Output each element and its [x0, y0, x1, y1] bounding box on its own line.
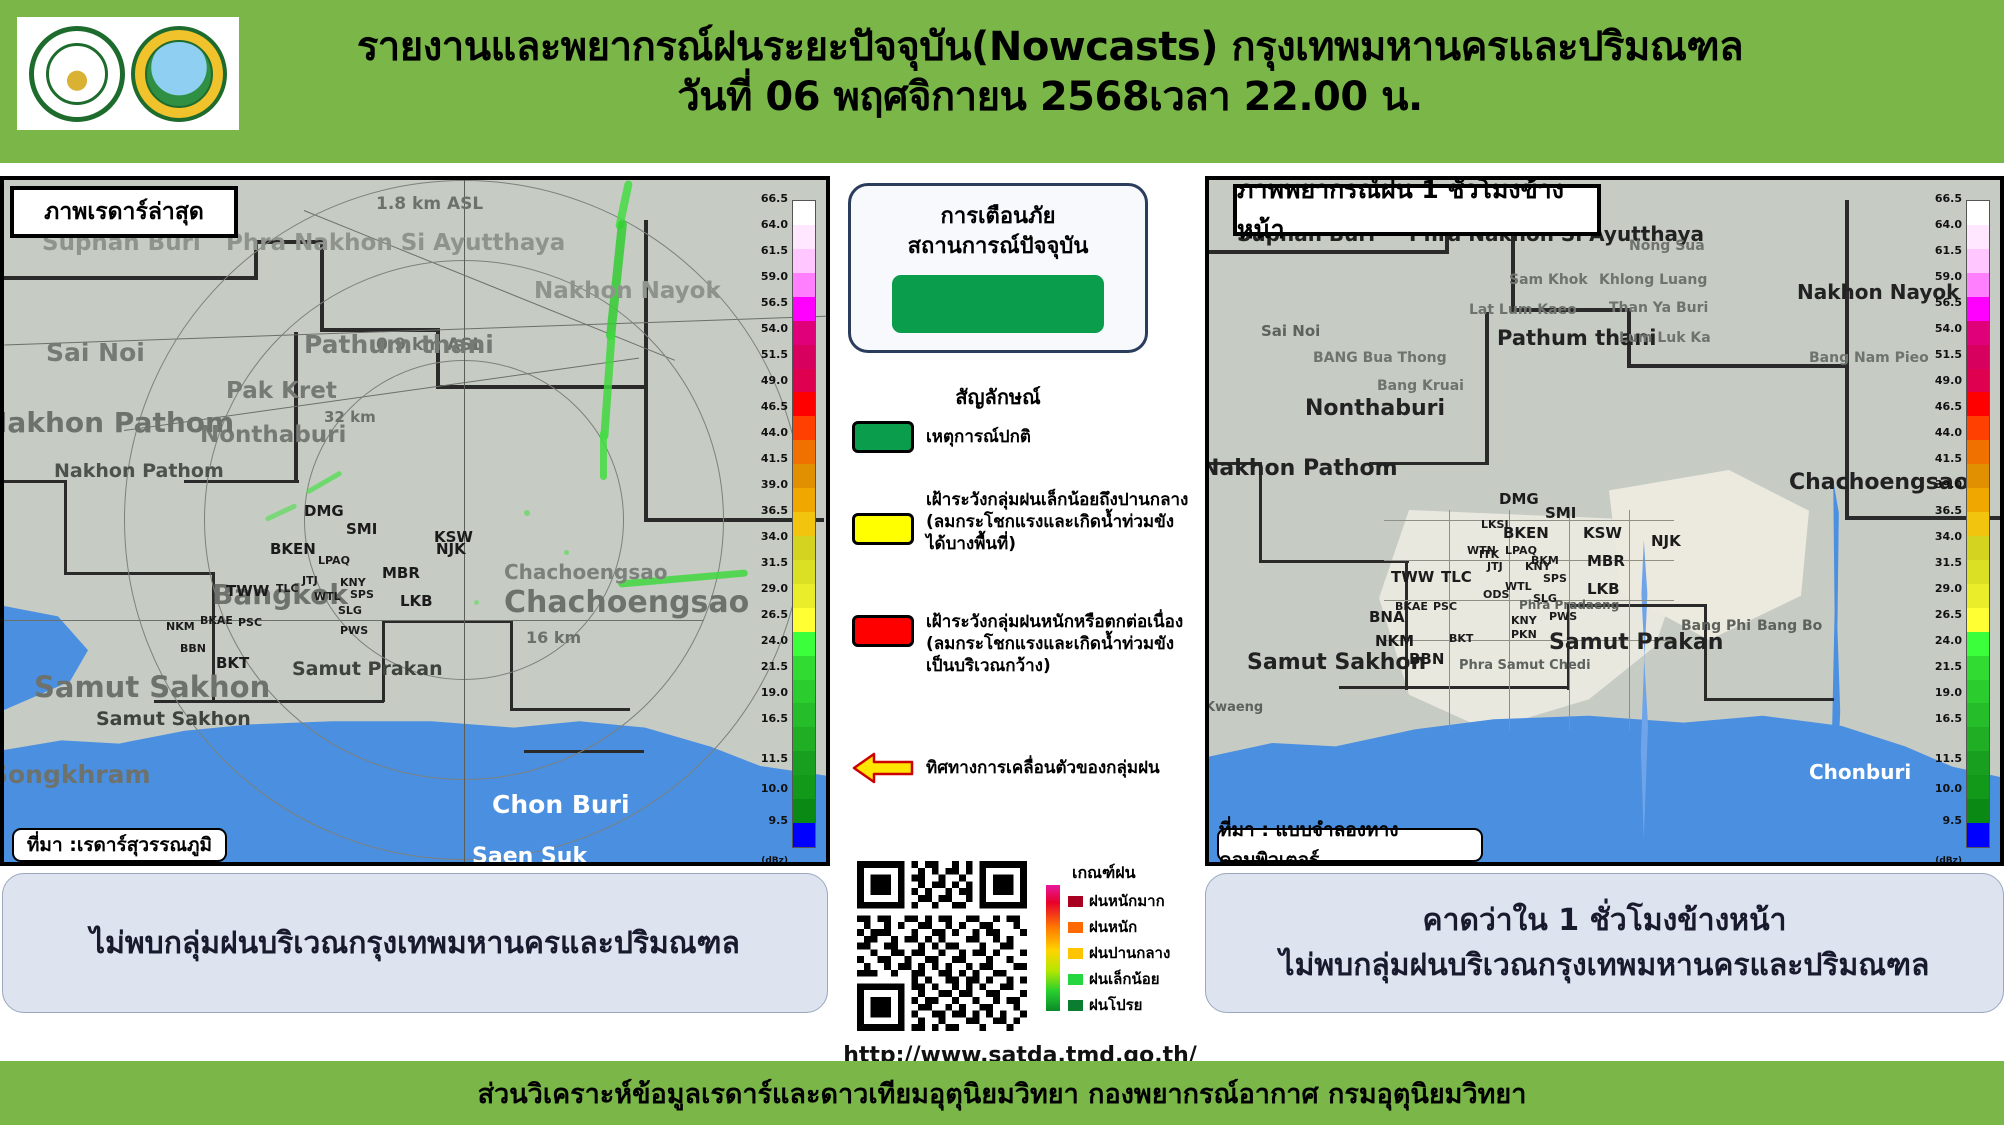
legend-label-movement-direction: ทิศทางการเคลื่อนตัวของกลุ่มฝน [926, 757, 1160, 779]
dbz-tick: 59.0 [761, 270, 788, 283]
dbz-tick: 36.5 [761, 504, 788, 517]
page-footer: ส่วนวิเคราะห์ข้อมูลเรดาร์และดาวเทียมอุตุ… [0, 1061, 2004, 1125]
dbz-tick: 10.0 [761, 782, 788, 795]
dbz-tick: 56.5 [1935, 296, 1962, 309]
province-border [4, 276, 254, 280]
district-line [1449, 510, 1450, 730]
rain-chip [1068, 896, 1083, 907]
left-summary-note: ไม่พบกลุ่มฝนบริเวณกรุงเทพมหานครและปริมณฑ… [2, 873, 828, 1013]
district-code-LKB: LKB [400, 592, 433, 610]
province-border [1845, 200, 1849, 520]
dbz-tick: 61.5 [761, 244, 788, 257]
dbz-tick: 31.5 [1935, 556, 1962, 569]
dbz-color-strip [1966, 200, 1990, 848]
legend-column: การเตือนภัย สถานการณ์ปัจจุบัน สัญลักษณ์ … [840, 171, 1200, 1051]
left-panel-source: ที่มา :เรดาร์สุวรรณภูมิ [12, 828, 227, 862]
tmd-department-seal-icon [131, 26, 227, 122]
district-code-BBN: NKM [1375, 632, 1414, 650]
legend-item-normal: เหตุการณ์ปกติ [852, 421, 1202, 453]
dbz-tick: 29.0 [1935, 582, 1962, 595]
district-code-TWW: TWW [226, 582, 269, 600]
dbz-tick: 34.0 [761, 530, 788, 543]
footer-text: ส่วนวิเคราะห์ข้อมูลเรดาร์และดาวเทียมอุตุ… [478, 1072, 1527, 1115]
content-area: 1.8 km ASL 0.9 km ASL 32 km 16 km Suphan… [0, 163, 2004, 1061]
province-border [1259, 462, 1262, 562]
district-code-BKT: BKT [216, 654, 249, 672]
right-panel-title: ภาพพยากรณ์ฝน 1 ชั่วโมงข้างหน้า [1233, 184, 1601, 236]
forecast-map-canvas[interactable]: Suphan Buri Phra Nakhon Si Ayutthaya Non… [1209, 180, 2000, 862]
dbz-tick: 11.5 [761, 752, 788, 765]
rain-intensity-gradient-bar [1046, 885, 1060, 1011]
logo-container [17, 17, 239, 130]
dbz-tick: 19.0 [1935, 686, 1962, 699]
right-note-text: คาดว่าใน 1 ชั่วโมงข้างหน้า ไม่พบกลุ่มฝนบ… [1280, 898, 1930, 988]
dbz-tick: 44.0 [1935, 426, 1962, 439]
qr-code-icon[interactable] [852, 861, 1032, 1031]
radar-echo [474, 600, 479, 605]
left-panel-title: ภาพเรดาร์ล่าสุด [10, 186, 238, 238]
province-border [1704, 604, 1707, 700]
district-code-MBR: MBR [1587, 552, 1625, 570]
district-code-PKN: KNY [1511, 614, 1537, 627]
title-line-1: รายงานและพยากรณ์ฝนระยะปัจจุบัน(Nowcasts)… [300, 22, 1800, 72]
district-code-SMI: SMI [1545, 504, 1576, 522]
district-code-SPS: SPS [350, 588, 374, 601]
district-code-PWS: PWS [340, 624, 368, 637]
district-code-DMG: DMG [304, 502, 344, 520]
dbz-tick: 16.5 [1935, 712, 1962, 725]
legend-heading: สัญลักษณ์ [848, 381, 1148, 413]
dbz-tick: 54.0 [761, 322, 788, 335]
district-code-BKEN: BKEN [270, 540, 316, 558]
dbz-tick: 46.5 [761, 400, 788, 413]
district-code-PSC: PSC [238, 616, 262, 629]
rain-label: ฝนหนักมาก [1089, 889, 1165, 913]
dbz-color-strip [792, 200, 816, 848]
district-line [1384, 520, 1674, 521]
rain-label: ฝนหนัก [1089, 915, 1137, 939]
legend-swatch-yellow [852, 513, 914, 545]
dbz-tick: 61.5 [1935, 244, 1962, 257]
district-code-NKM: BNA [1369, 608, 1405, 626]
dbz-tick: 46.5 [1935, 400, 1962, 413]
dbz-tick-labels: 66.5 64.0 61.5 59.0 56.5 54.0 51.5 49.0 … [1914, 192, 1962, 852]
district-line [1629, 510, 1630, 730]
district-code-BKAE: BKAE [200, 614, 233, 627]
dbz-tick: 64.0 [1935, 218, 1962, 231]
province-border [1485, 312, 1489, 462]
district-code-NJK: NJK [1651, 532, 1681, 550]
dbz-tick: 36.5 [1935, 504, 1962, 517]
province-border [4, 480, 64, 483]
right-note-line-2: ไม่พบกลุ่มฝนบริเวณกรุงเทพมหานครและปริมณฑ… [1280, 943, 1930, 988]
legend-item-movement-direction: ทิศทางการเคลื่อนตัวของกลุ่มฝน [852, 751, 1202, 785]
district-code-TWW: TWW [1391, 568, 1434, 586]
district-code-SLG: SLG [1533, 592, 1557, 605]
dbz-unit-label: (dBz) [761, 856, 788, 866]
district-code-BKT: BBN [1409, 650, 1444, 668]
tmd-royal-seal-icon [29, 26, 125, 122]
province-border [1627, 364, 1847, 368]
district-code-BKM: BKM [1531, 554, 1559, 567]
district-code-JTJ: JTJ [1487, 560, 1503, 573]
dbz-tick: 16.5 [761, 712, 788, 725]
district-code-BBN: BBN [180, 642, 206, 655]
left-arrow-icon [852, 751, 914, 785]
district-code-PWS: PWS [1549, 610, 1577, 623]
dbz-tick: 66.5 [1935, 192, 1962, 205]
district-code-KSW: KSW [1583, 524, 1622, 542]
legend-label-watch-heavy: เฝ้าระวังกลุ่มฝนหนักหรือตกต่อเนื่อง (ลมก… [926, 611, 1194, 677]
radar-latest-panel[interactable]: 1.8 km ASL 0.9 km ASL 32 km 16 km Suphan… [0, 176, 830, 866]
rain-label: ฝนปานกลาง [1089, 941, 1170, 965]
province-border [1704, 698, 1834, 701]
dbz-tick: 41.5 [761, 452, 788, 465]
radar-echo [600, 430, 607, 480]
dbz-tick: 41.5 [1935, 452, 1962, 465]
province-border [1511, 308, 1631, 312]
rain-item-moderate: ฝนปานกลาง [1068, 941, 1170, 965]
dbz-tick: 44.0 [761, 426, 788, 439]
dbz-tick: 51.5 [761, 348, 788, 361]
rain-chip [1068, 974, 1083, 985]
district-code-JTJ: JTJ [302, 574, 318, 587]
legend-item-watch-heavy: เฝ้าระวังกลุ่มฝนหนักหรือตกต่อเนื่อง (ลมก… [852, 611, 1202, 677]
province-border [64, 480, 67, 575]
rain-criteria-title: เกณฑ์ฝน [1072, 861, 1196, 886]
page-header: รายงานและพยากรณ์ฝนระยะปัจจุบัน(Nowcasts)… [0, 0, 2004, 163]
title-line-2: วันที่ 06 พฤศจิกายน 2568เวลา 22.00 น. [300, 72, 1800, 122]
dbz-tick: 34.0 [1935, 530, 1962, 543]
rain-chip [1068, 1000, 1083, 1011]
district-code-SLG: SLG [338, 604, 362, 617]
radar-echo [524, 510, 530, 516]
dbz-tick: 39.0 [1935, 478, 1962, 491]
dbz-tick: 59.0 [1935, 270, 1962, 283]
dbz-tick: 66.5 [761, 192, 788, 205]
dbz-tick: 21.5 [761, 660, 788, 673]
page-title: รายงานและพยากรณ์ฝนระยะปัจจุบัน(Nowcasts)… [300, 22, 1800, 122]
province-border [1567, 604, 1707, 607]
left-note-text: ไม่พบกลุ่มฝนบริเวณกรุงเทพมหานครและปริมณฑ… [90, 921, 740, 966]
district-code-BKEN: BKEN [1503, 524, 1549, 542]
district-code-SMI: SMI [346, 520, 377, 538]
district-code-LKB: LKB [1587, 580, 1620, 598]
rain-item-drizzle: ฝนโปรย [1068, 993, 1142, 1017]
district-code-SPS: SPS [1543, 572, 1567, 585]
district-code-DMG: DMG [1499, 490, 1539, 508]
dbz-tick: 10.0 [1935, 782, 1962, 795]
dbz-tick: 19.0 [761, 686, 788, 699]
legend-swatch-green [852, 421, 914, 453]
dbz-tick: 51.5 [1935, 348, 1962, 361]
province-border [1339, 686, 1569, 689]
province-border [1209, 462, 1261, 465]
dbz-colorbar-right: 66.5 64.0 61.5 59.0 56.5 54.0 51.5 49.0 … [1914, 190, 2004, 862]
right-note-line-1: คาดว่าใน 1 ชั่วโมงข้างหน้า [1280, 898, 1930, 943]
district-code-DDS: WTN [1467, 544, 1496, 557]
rain-label: ฝนเล็กน้อย [1089, 967, 1160, 991]
district-code-NJK: NJK [436, 540, 466, 558]
district-code-ITKU: BKT [1449, 632, 1473, 645]
alert-title-line-1: การเตือนภัย [851, 202, 1145, 232]
dbz-tick: 64.0 [761, 218, 788, 231]
district-code-MBR: MBR [382, 564, 420, 582]
rain-item-light: ฝนเล็กน้อย [1068, 967, 1160, 991]
province-border [1627, 308, 1631, 368]
district-line [1509, 510, 1510, 730]
legend-label-watch-light: เฝ้าระวังกลุ่มฝนเล็กน้อยถึงปานกลาง (ลมกร… [926, 489, 1194, 555]
radar-echo [564, 550, 569, 555]
alert-title-line-2: สถานการณ์ปัจจุบัน [851, 232, 1145, 262]
district-code-LPAQ: LPAQ [318, 554, 350, 567]
dbz-unit-label: (dBz) [1935, 856, 1962, 866]
radar-map-canvas[interactable]: 1.8 km ASL 0.9 km ASL 32 km 16 km Suphan… [4, 180, 826, 862]
dbz-tick: 21.5 [1935, 660, 1962, 673]
dbz-tick: 49.0 [1935, 374, 1962, 387]
rain-item-heavy: ฝนหนัก [1068, 915, 1137, 939]
legend-item-watch-light: เฝ้าระวังกลุ่มฝนเล็กน้อยถึงปานกลาง (ลมกร… [852, 489, 1202, 555]
dbz-tick: 26.5 [1935, 608, 1962, 621]
dbz-tick: 24.0 [1935, 634, 1962, 647]
district-code-PSC: PSC [1433, 600, 1457, 613]
dbz-tick: 31.5 [761, 556, 788, 569]
district-code-BNA: PKN [1511, 628, 1537, 641]
dbz-tick: 39.0 [761, 478, 788, 491]
dbz-tick-labels: 66.5 64.0 61.5 59.0 56.5 54.0 51.5 49.0 … [740, 192, 788, 852]
province-border [1369, 462, 1489, 465]
dbz-tick: 9.5 [1943, 814, 1963, 827]
rain-criteria-scale: เกณฑ์ฝน ฝนหนักมาก ฝนหนัก ฝนปานกลาง ฝนเล็… [1046, 861, 1196, 886]
rain-label: ฝนโปรย [1089, 993, 1142, 1017]
province-border [1209, 250, 1449, 254]
district-code-TLC: TLC [276, 582, 299, 595]
alert-status-badge [892, 275, 1104, 333]
dbz-tick: 9.5 [769, 814, 789, 827]
district-code-TLC: TLC [1441, 568, 1472, 586]
district-code-WTN: ODS [1483, 588, 1509, 601]
dbz-tick: 26.5 [761, 608, 788, 621]
right-panel-source: ที่มา : แบบจำลองทางคอมพิวเตอร์ [1217, 828, 1483, 862]
dbz-tick: 11.5 [1935, 752, 1962, 765]
rain-chip [1068, 922, 1083, 933]
rain-chip [1068, 948, 1083, 959]
dbz-tick: 56.5 [761, 296, 788, 309]
dbz-tick: 24.0 [761, 634, 788, 647]
alert-status-card: การเตือนภัย สถานการณ์ปัจจุบัน [848, 183, 1148, 353]
dbz-tick: 29.0 [761, 582, 788, 595]
dbz-colorbar-left: 66.5 64.0 61.5 59.0 56.5 54.0 51.5 49.0 … [740, 190, 830, 862]
legend-swatch-red [852, 615, 914, 647]
dbz-tick: 54.0 [1935, 322, 1962, 335]
radar-axis-vertical [464, 180, 465, 866]
dbz-tick: 49.0 [761, 374, 788, 387]
rain-item-very-heavy: ฝนหนักมาก [1068, 889, 1165, 913]
district-code-WTL: WTL [314, 590, 341, 603]
right-summary-note: คาดว่าใน 1 ชั่วโมงข้างหน้า ไม่พบกลุ่มฝนบ… [1205, 873, 2004, 1013]
rain-forecast-panel[interactable]: Suphan Buri Phra Nakhon Si Ayutthaya Non… [1205, 176, 2004, 866]
alert-card-title: การเตือนภัย สถานการณ์ปัจจุบัน [851, 202, 1145, 261]
legend-label-normal: เหตุการณ์ปกติ [926, 426, 1031, 448]
district-code-NKM: NKM [166, 620, 195, 633]
